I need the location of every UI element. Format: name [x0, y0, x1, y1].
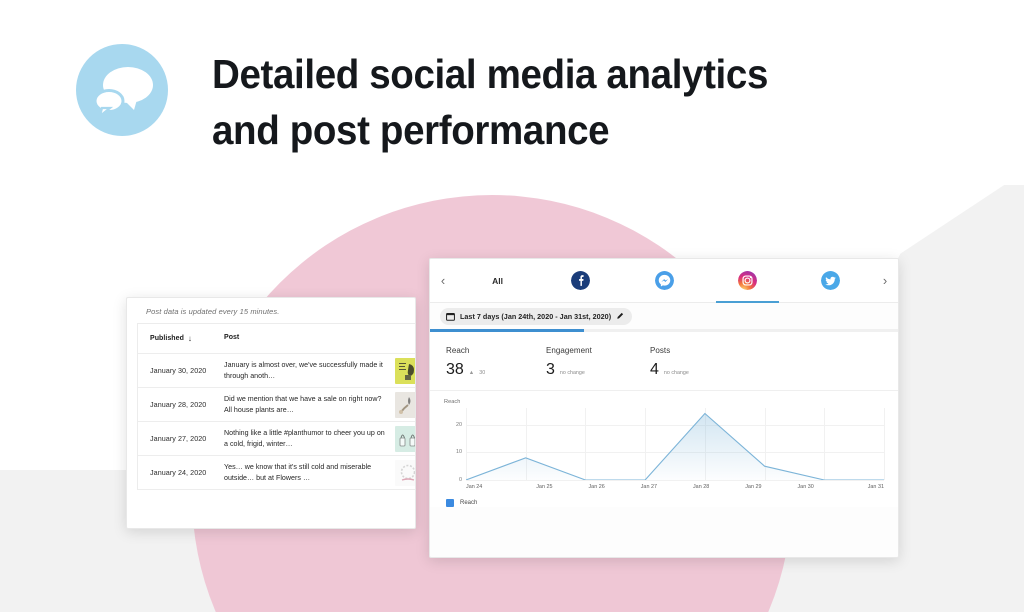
chart-x-tick: Jan 30	[780, 484, 832, 490]
posts-table: Published ↓ Post January 30, 2020 Januar…	[137, 323, 416, 490]
chart-x-tick: Jan 25	[518, 484, 570, 490]
cell-post-text: Nothing like a little #planthumor to che…	[224, 428, 395, 448]
calendar-icon	[446, 312, 455, 321]
chart-y-tick: 20	[444, 422, 462, 428]
cell-published: January 28, 2020	[138, 400, 224, 409]
metric-engagement: Engagement 3 no change	[546, 346, 650, 378]
table-row[interactable]: January 24, 2020 Yes… we know that it's …	[138, 456, 416, 490]
date-range-label: Last 7 days (Jan 24th, 2020 - Jan 31st, …	[460, 312, 611, 321]
chart-y-tick: 0	[444, 477, 462, 483]
pencil-icon	[616, 312, 624, 320]
legend-label: Reach	[460, 500, 477, 506]
metric-value: 3	[546, 362, 555, 378]
chevron-left-icon[interactable]: ‹	[430, 274, 456, 287]
post-thumbnail	[395, 460, 416, 486]
chart-gridline	[466, 480, 884, 481]
chart-x-tick: Jan 24	[466, 484, 518, 490]
metric-label: Engagement	[546, 346, 650, 355]
hero-section: Detailed social media analytics and post…	[0, 0, 1024, 185]
cell-published: January 27, 2020	[138, 434, 224, 443]
messenger-icon	[655, 271, 674, 290]
post-thumbnail	[395, 358, 416, 384]
tab-instagram[interactable]	[706, 259, 789, 303]
column-header-published[interactable]: Published ↓	[138, 335, 224, 343]
tab-all-label: All	[492, 276, 503, 286]
table-row[interactable]: January 27, 2020 Nothing like a little #…	[138, 422, 416, 456]
column-header-published-label: Published	[150, 335, 184, 342]
reach-chart: Reach 01020 Jan 24Jan 25Jan 26Jan 27Jan …	[430, 391, 898, 490]
post-thumbnail	[395, 392, 416, 418]
posts-card: Post data is updated every 15 minutes. P…	[126, 297, 416, 529]
cell-published: January 30, 2020	[138, 366, 224, 375]
chart-legend: Reach	[430, 490, 898, 507]
post-thumbnail	[395, 426, 416, 452]
cell-published: January 24, 2020	[138, 468, 224, 477]
cell-post-text: Did we mention that we have a sale on ri…	[224, 394, 395, 414]
promo-screenshot: Detailed social media analytics and post…	[0, 0, 1024, 612]
metric-label: Posts	[650, 346, 750, 355]
chart-x-tick: Jan 28	[675, 484, 727, 490]
metric-value: 4	[650, 362, 659, 378]
posts-update-note: Post data is updated every 15 minutes.	[127, 298, 415, 323]
page-title-line-1: Detailed social media analytics	[212, 46, 889, 102]
chart-x-tick: Jan 29	[727, 484, 779, 490]
date-range-row: Last 7 days (Jan 24th, 2020 - Jan 31st, …	[430, 303, 898, 329]
cell-post-text: Yes… we know that it's still cold and mi…	[224, 462, 395, 482]
legend-swatch	[446, 499, 454, 507]
metric-delta: no change	[664, 370, 689, 376]
page-title-line-2: and post performance	[212, 102, 889, 158]
date-range-picker[interactable]: Last 7 days (Jan 24th, 2020 - Jan 31st, …	[440, 308, 632, 325]
chart-x-axis: Jan 24Jan 25Jan 26Jan 27Jan 28Jan 29Jan …	[466, 480, 884, 490]
metric-label: Reach	[446, 346, 546, 355]
chart-y-tick: 10	[444, 449, 462, 455]
analytics-card: ‹ All	[429, 258, 899, 558]
channel-tab-bar: ‹ All	[430, 259, 898, 303]
chart-gridline-vertical	[884, 408, 885, 480]
facebook-icon	[571, 271, 590, 290]
tab-facebook[interactable]	[539, 259, 622, 303]
page-title: Detailed social media analytics and post…	[212, 46, 889, 158]
chart-series-reach	[466, 408, 884, 480]
tab-all[interactable]: All	[456, 259, 539, 303]
chat-bubbles-icon	[76, 44, 168, 136]
metric-reach: Reach 38 ▲ 30	[446, 346, 546, 378]
table-row[interactable]: January 30, 2020 January is almost over,…	[138, 354, 416, 388]
chart-title: Reach	[444, 399, 884, 405]
instagram-icon	[738, 271, 757, 290]
metrics-row: Reach 38 ▲ 30 Engagement 3 no change Pos…	[430, 332, 898, 391]
chart-x-tick: Jan 31	[832, 484, 884, 490]
tab-twitter[interactable]	[789, 259, 872, 303]
loading-progress-fill	[430, 329, 584, 332]
chevron-right-icon[interactable]: ›	[872, 274, 898, 287]
table-row[interactable]: January 28, 2020 Did we mention that we …	[138, 388, 416, 422]
caret-up-icon: ▲	[469, 370, 474, 376]
loading-progress-bar	[430, 329, 898, 332]
metric-value: 38	[446, 362, 464, 378]
arrow-down-icon: ↓	[188, 335, 192, 343]
metric-delta: no change	[560, 370, 585, 376]
column-header-thumb-spacer	[395, 326, 416, 352]
chart-x-tick: Jan 26	[571, 484, 623, 490]
chart-plot-area: 01020	[466, 408, 884, 480]
metric-posts: Posts 4 no change	[650, 346, 750, 378]
cell-post-text: January is almost over, we've successful…	[224, 360, 395, 380]
twitter-icon	[821, 271, 840, 290]
metric-delta: 30	[479, 370, 485, 376]
table-header-row: Published ↓ Post	[138, 324, 416, 354]
chart-x-tick: Jan 27	[623, 484, 675, 490]
tab-messenger[interactable]	[622, 259, 705, 303]
column-header-post: Post	[224, 333, 395, 343]
